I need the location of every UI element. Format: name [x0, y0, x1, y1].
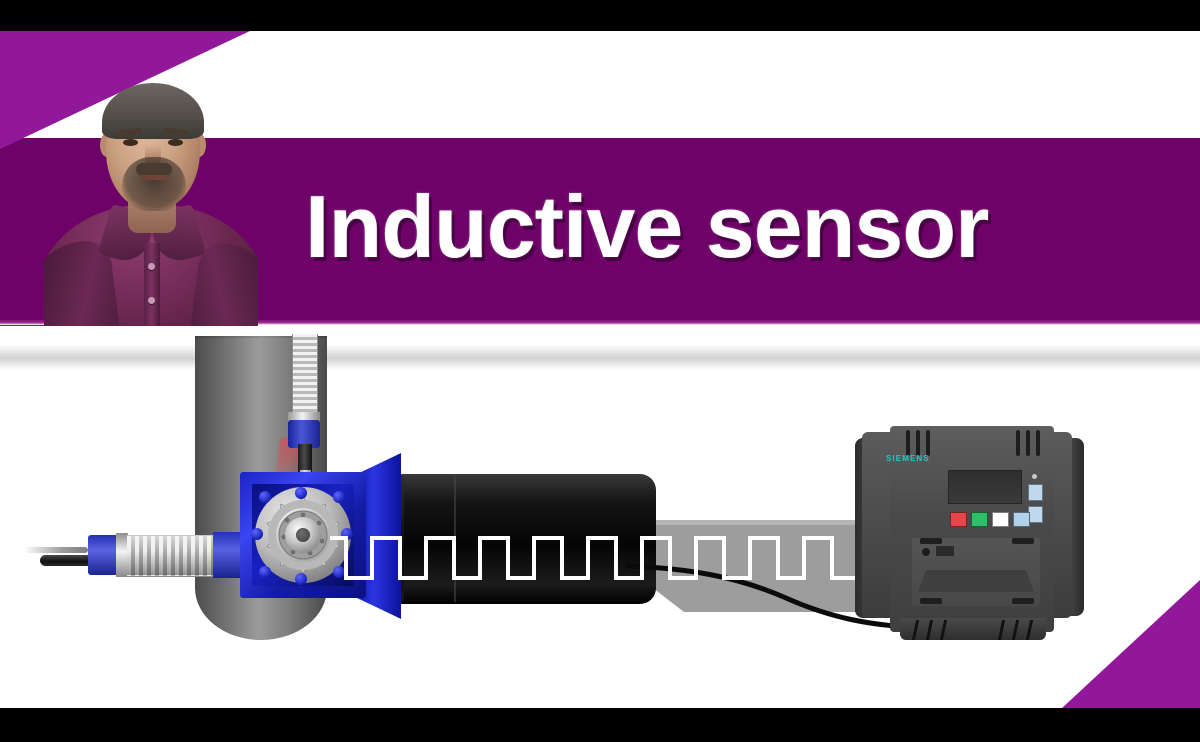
horizontal-sensor-cable — [24, 547, 88, 553]
presenter-shirt-button — [148, 263, 155, 270]
drive-vent-slit — [1016, 430, 1020, 456]
drive-panel-bevel — [918, 570, 1034, 592]
drive-down-button[interactable] — [1028, 506, 1043, 523]
drive-vent-slit — [1026, 430, 1030, 456]
vertical-sensor-thread — [292, 334, 318, 416]
video-frame: Inductive sensor — [0, 0, 1200, 742]
drive-vent-slit — [926, 430, 930, 456]
drive-base — [900, 618, 1046, 640]
drive-fn-button[interactable] — [1013, 512, 1030, 527]
drive-run-button[interactable] — [971, 512, 988, 527]
presenter-eye-right — [168, 139, 183, 146]
presenter-mouth — [140, 175, 168, 180]
drive-panel-knob-icon — [922, 548, 930, 556]
square-wave-signal — [330, 526, 890, 592]
drive-panel-tab — [1012, 598, 1034, 604]
diagram-stage: SIEMENS — [0, 326, 1200, 708]
drive-status-led-icon — [1032, 474, 1037, 479]
drive-display — [948, 470, 1022, 504]
horizontal-sensor-shading — [127, 535, 215, 575]
presenter-shirt-button — [148, 297, 155, 304]
presenter-portrait — [44, 57, 258, 326]
drive-stop-button[interactable] — [950, 512, 967, 527]
drive-panel-tab — [1012, 538, 1034, 544]
page-title: Inductive sensor — [305, 183, 988, 271]
letterbox-top — [0, 0, 1200, 31]
drive-vent-slit — [916, 430, 920, 456]
siemens-logo: SIEMENS — [886, 454, 930, 463]
gearbox-bolt — [251, 528, 263, 540]
drive-panel-tab — [920, 598, 942, 604]
drive-panel-tab — [920, 538, 942, 544]
drive-vent-slit — [1036, 430, 1040, 456]
drive-vent-slit — [906, 430, 910, 456]
drive-up-button[interactable] — [1028, 484, 1043, 501]
gearbox-bolt — [259, 491, 271, 503]
gearbox-bolt — [333, 491, 345, 503]
gear-center-bore — [296, 528, 310, 542]
gearbox-bolt — [295, 573, 307, 585]
presenter-eye-left — [123, 139, 138, 146]
drive-panel-slot — [936, 546, 954, 556]
horizontal-sensor-body — [88, 535, 118, 575]
letterbox-bottom — [0, 708, 1200, 742]
floor-shading — [0, 344, 1200, 370]
presenter-placket — [144, 243, 160, 326]
drive-jog-button[interactable] — [992, 512, 1009, 527]
horizontal-sensor-collar — [213, 532, 243, 578]
title-header: Inductive sensor — [0, 31, 1200, 326]
gearbox-bolt — [259, 566, 271, 578]
gearbox-bolt — [295, 487, 307, 499]
